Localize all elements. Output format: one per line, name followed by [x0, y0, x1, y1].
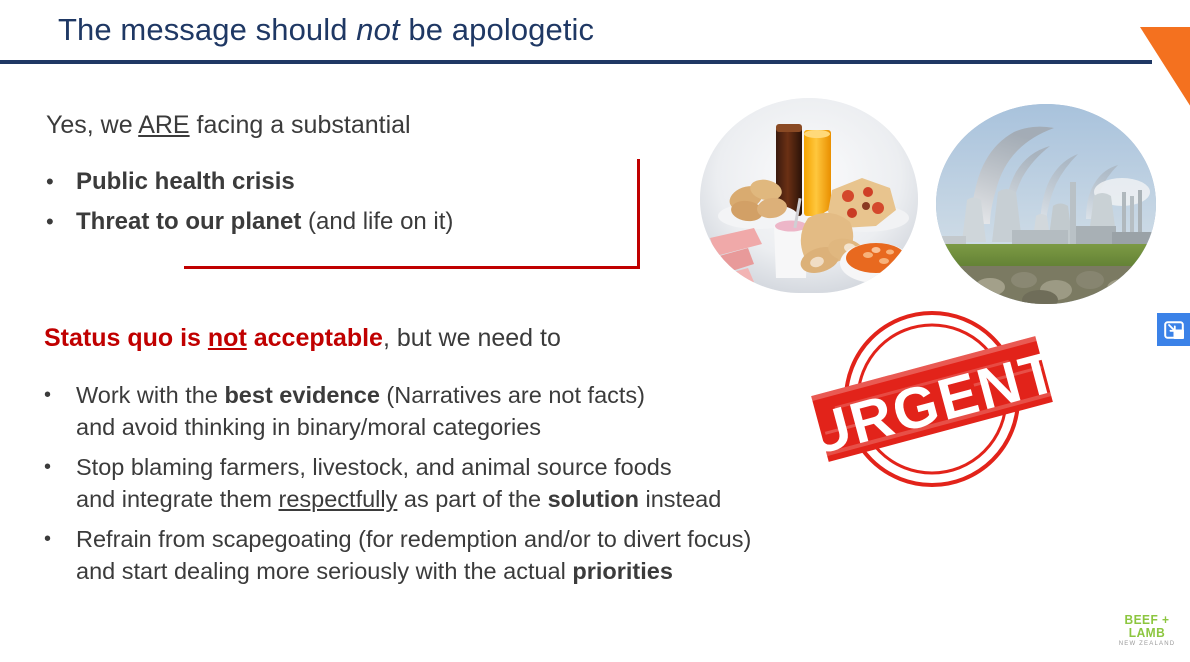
- action-item-text: Refrain from scapegoating (for redemptio…: [76, 523, 751, 587]
- bullet-text: Public health crisis: [76, 168, 295, 196]
- action-text-a: and integrate them: [76, 486, 279, 512]
- status-quo-red-post: acceptable: [247, 324, 383, 352]
- list-item: • Stop blaming farmers, livestock, and a…: [44, 451, 751, 515]
- red-bracket-vertical: [637, 159, 640, 269]
- bullet-text: Threat to our planet (and life on it): [76, 208, 453, 236]
- action-text-b: (Narratives are not facts): [380, 382, 645, 408]
- lead-underlined-word: ARE: [138, 111, 189, 139]
- status-quo-statement: Status quo is not acceptable, but we nee…: [44, 324, 561, 353]
- processed-foods-image: [700, 98, 918, 293]
- bullet-dot-icon: •: [44, 451, 76, 483]
- status-quo-red-pre: Status quo is: [44, 324, 208, 352]
- power-plant-illustration: [936, 104, 1156, 304]
- title-text-post: be apologetic: [400, 12, 594, 47]
- corner-triangle-icon: [1140, 27, 1190, 115]
- logo-secondary-text: NEW ZEALAND: [1112, 641, 1182, 647]
- action-text-underlined: respectfully: [279, 486, 398, 512]
- list-item: • Public health crisis: [46, 168, 295, 196]
- action-line-1: Stop blaming farmers, livestock, and ani…: [76, 454, 672, 480]
- action-list: • Work with the best evidence (Narrative…: [44, 379, 751, 595]
- bullet-strong-text: Public health crisis: [76, 168, 295, 195]
- action-line-2: and integrate them respectfully as part …: [76, 486, 721, 512]
- stamp-banner: URGENT: [806, 333, 1058, 468]
- status-quo-underlined-word: not: [208, 324, 247, 352]
- action-line-1: Refrain from scapegoating (for redemptio…: [76, 526, 751, 552]
- list-item: • Work with the best evidence (Narrative…: [44, 379, 751, 443]
- action-line-2: and avoid thinking in binary/moral categ…: [76, 414, 541, 440]
- bullet-dot-icon: •: [46, 171, 76, 193]
- title-divider-rule: [0, 60, 1152, 64]
- action-text-a: Work with the: [76, 382, 224, 408]
- action-item-text: Stop blaming farmers, livestock, and ani…: [76, 451, 721, 515]
- action-text-strong: solution: [548, 486, 639, 512]
- red-bracket-horizontal: [184, 266, 640, 269]
- page-title: The message should not be apologetic: [58, 12, 594, 48]
- action-text-c: instead: [639, 486, 721, 512]
- bullet-dot-icon: •: [46, 211, 76, 233]
- processed-foods-illustration: [700, 98, 918, 293]
- action-text-strong: best evidence: [224, 382, 379, 408]
- lead-pre: Yes, we: [46, 111, 138, 139]
- list-item: • Threat to our planet (and life on it): [46, 208, 453, 236]
- logo-primary-text: BEEF + LAMB: [1115, 613, 1179, 639]
- list-item: • Refrain from scapegoating (for redempt…: [44, 523, 751, 587]
- bullet-strong-text: Threat to our planet: [76, 208, 301, 235]
- picture-in-picture-button[interactable]: [1157, 313, 1190, 346]
- bullet-dot-icon: •: [44, 379, 76, 411]
- title-text-pre: The message should: [58, 12, 356, 47]
- title-text-emphasis: not: [356, 12, 399, 47]
- action-text-a: and start dealing more seriously with th…: [76, 558, 572, 584]
- status-quo-emphasis: Status quo is not acceptable: [44, 324, 383, 352]
- lead-statement: Yes, we ARE facing a substantial: [46, 111, 411, 140]
- power-plant-image: [936, 104, 1156, 304]
- urgent-stamp-label: URGENT: [806, 339, 1058, 468]
- lead-post: facing a substantial: [190, 111, 411, 139]
- status-quo-plain: , but we need to: [383, 324, 561, 352]
- bullet-rest-text: (and life on it): [301, 208, 453, 235]
- presentation-slide: The message should not be apologetic Yes…: [0, 0, 1190, 662]
- urgent-stamp: URGENT: [806, 303, 1058, 498]
- urgent-stamp-graphic: URGENT: [806, 303, 1058, 498]
- bullet-dot-icon: •: [44, 523, 76, 555]
- corner-triangle-decoration: [1140, 27, 1190, 115]
- action-text-b: as part of the: [397, 486, 547, 512]
- action-line-1: Work with the best evidence (Narratives …: [76, 382, 645, 408]
- beef-lamb-nz-logo: BEEF + LAMB NEW ZEALAND: [1112, 613, 1182, 647]
- action-item-text: Work with the best evidence (Narratives …: [76, 379, 645, 443]
- action-line-2: and start dealing more seriously with th…: [76, 558, 673, 584]
- action-text-strong: priorities: [572, 558, 673, 584]
- picture-in-picture-icon: [1164, 321, 1184, 339]
